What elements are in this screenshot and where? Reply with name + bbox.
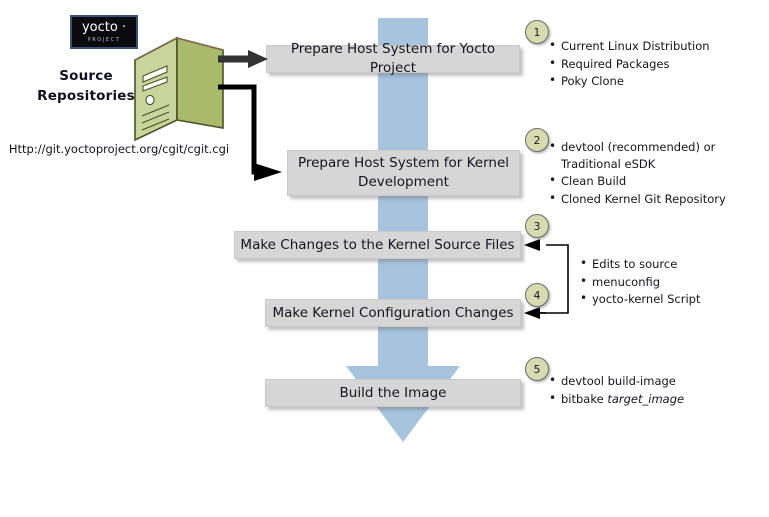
- step-number-badge-5: 5: [525, 357, 549, 381]
- note-item: yocto-kernel Script: [580, 291, 760, 308]
- source-repositories-label: Source Repositories: [26, 66, 146, 106]
- step-number-badge-2: 2: [525, 128, 549, 152]
- note-item-text: devtool build-image: [561, 374, 676, 388]
- note-list-step-1: Current Linux Distribution Required Pack…: [549, 38, 764, 91]
- diagram-canvas: yocto · PROJECT Source Repositories Http…: [0, 0, 769, 517]
- note-item: Current Linux Distribution: [549, 38, 764, 55]
- note-list-steps-3-4: Edits to source menuconfig yocto-kernel …: [580, 256, 760, 309]
- note-item: bitbake target_image: [549, 391, 759, 408]
- connector-feedback-loop-box4-to-box3: [524, 239, 568, 319]
- logo-wordmark: yocto ·: [72, 21, 136, 35]
- source-label-line-1: Source: [26, 66, 146, 86]
- note-item-text: bitbake: [561, 392, 607, 406]
- logo-subtext: PROJECT: [72, 37, 136, 43]
- step-number-badge-1: 1: [525, 20, 549, 44]
- connector-server-to-box1: [218, 50, 268, 68]
- process-box-label: Prepare Host System for Yocto Project: [267, 40, 519, 78]
- process-box-label: Make Changes to the Kernel Source Files: [240, 236, 514, 255]
- process-box-prepare-host-yocto[interactable]: Prepare Host System for Yocto Project: [266, 45, 520, 73]
- note-item: Cloned Kernel Git Repository: [549, 191, 764, 208]
- note-item: Edits to source: [580, 256, 760, 273]
- process-box-make-source-changes[interactable]: Make Changes to the Kernel Source Files: [234, 231, 521, 259]
- note-item: menuconfig: [580, 274, 760, 291]
- source-label-line-2: Repositories: [26, 86, 146, 106]
- step-number-badge-4: 4: [525, 283, 549, 307]
- process-box-label: Build the Image: [340, 384, 447, 403]
- note-item: Required Packages: [549, 56, 764, 73]
- step-number-badge-3: 3: [525, 214, 549, 238]
- main-flow-arrow-icon: [340, 18, 466, 500]
- yocto-project-logo: yocto · PROJECT: [70, 15, 138, 49]
- process-box-prepare-host-kernel[interactable]: Prepare Host System for Kernel Developme…: [287, 150, 520, 196]
- process-box-build-image[interactable]: Build the Image: [265, 379, 521, 407]
- note-item-emphasis: target_image: [607, 392, 684, 406]
- note-item: devtool build-image: [549, 373, 759, 390]
- process-box-make-config-changes[interactable]: Make Kernel Configuration Changes: [265, 299, 521, 327]
- note-item: Clean Build: [549, 173, 764, 190]
- note-item: devtool (recommended) or Traditional eSD…: [549, 139, 764, 172]
- server-icon: [133, 36, 225, 142]
- process-box-label: Prepare Host System for Kernel Developme…: [288, 154, 519, 192]
- process-box-label: Make Kernel Configuration Changes: [272, 304, 513, 323]
- connector-server-to-box2: [218, 87, 282, 181]
- note-list-step-2: devtool (recommended) or Traditional eSD…: [549, 139, 764, 208]
- source-repository-url: Http://git.yoctoproject.org/cgit/cgit.cg…: [4, 142, 234, 156]
- note-item: Poky Clone: [549, 73, 764, 90]
- note-list-step-5: devtool build-image bitbake target_image: [549, 373, 759, 408]
